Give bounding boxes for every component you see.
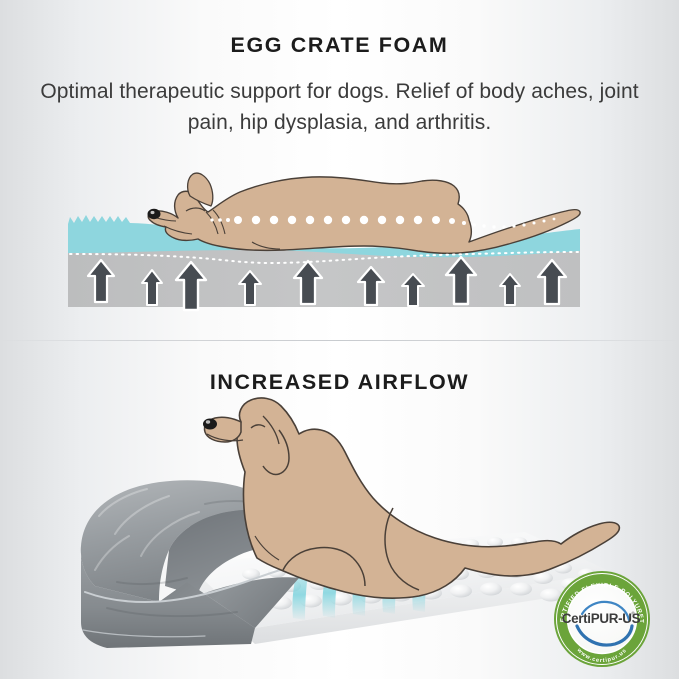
panel-egg-crate-foam: EGG CRATE FOAM Optimal therapeutic suppo… <box>0 0 679 340</box>
illustration-dog-on-foam-cross-section <box>60 150 620 325</box>
subtitle-text: Optimal therapeutic support for dogs. Re… <box>28 76 651 138</box>
badge-brand-text: CertiPUR-US <box>562 611 641 626</box>
dog-figure <box>148 173 581 253</box>
dog-nose <box>203 419 217 430</box>
dog-nose <box>148 209 161 219</box>
product-feature-image: EGG CRATE FOAM Optimal therapeutic suppo… <box>0 0 679 679</box>
illustration-dog-on-bolster-bed <box>55 386 625 676</box>
page-title: EGG CRATE FOAM <box>0 33 679 58</box>
certipur-us-badge: CONTAINS CERTIFIED FLEXIBLE POLYURETHANE… <box>551 568 653 670</box>
